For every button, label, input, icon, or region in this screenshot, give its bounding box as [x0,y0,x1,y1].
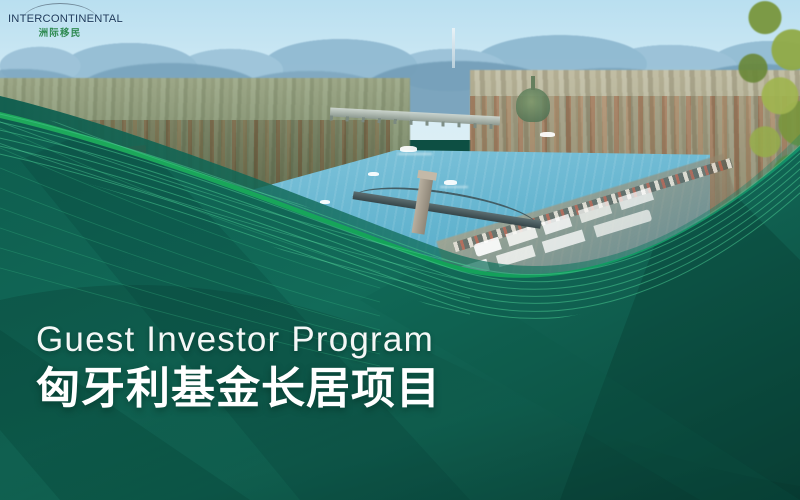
logo-wordmark: INTERCONTINENTAL [8,13,112,25]
title-chinese: 匈牙利基金长居项目 [36,366,441,412]
title-english: Guest Investor Program [36,322,441,359]
hero-banner: INTERCONTINENTAL 洲际移民 Guest Investor Pro… [0,0,800,500]
headline-block: Guest Investor Program 匈牙利基金长居项目 [36,322,441,412]
green-wave-overlay [0,0,800,500]
brand-logo[interactable]: INTERCONTINENTAL 洲际移民 [8,3,112,37]
wave-graphic [0,0,800,500]
logo-chinese-name: 洲际移民 [8,25,112,39]
